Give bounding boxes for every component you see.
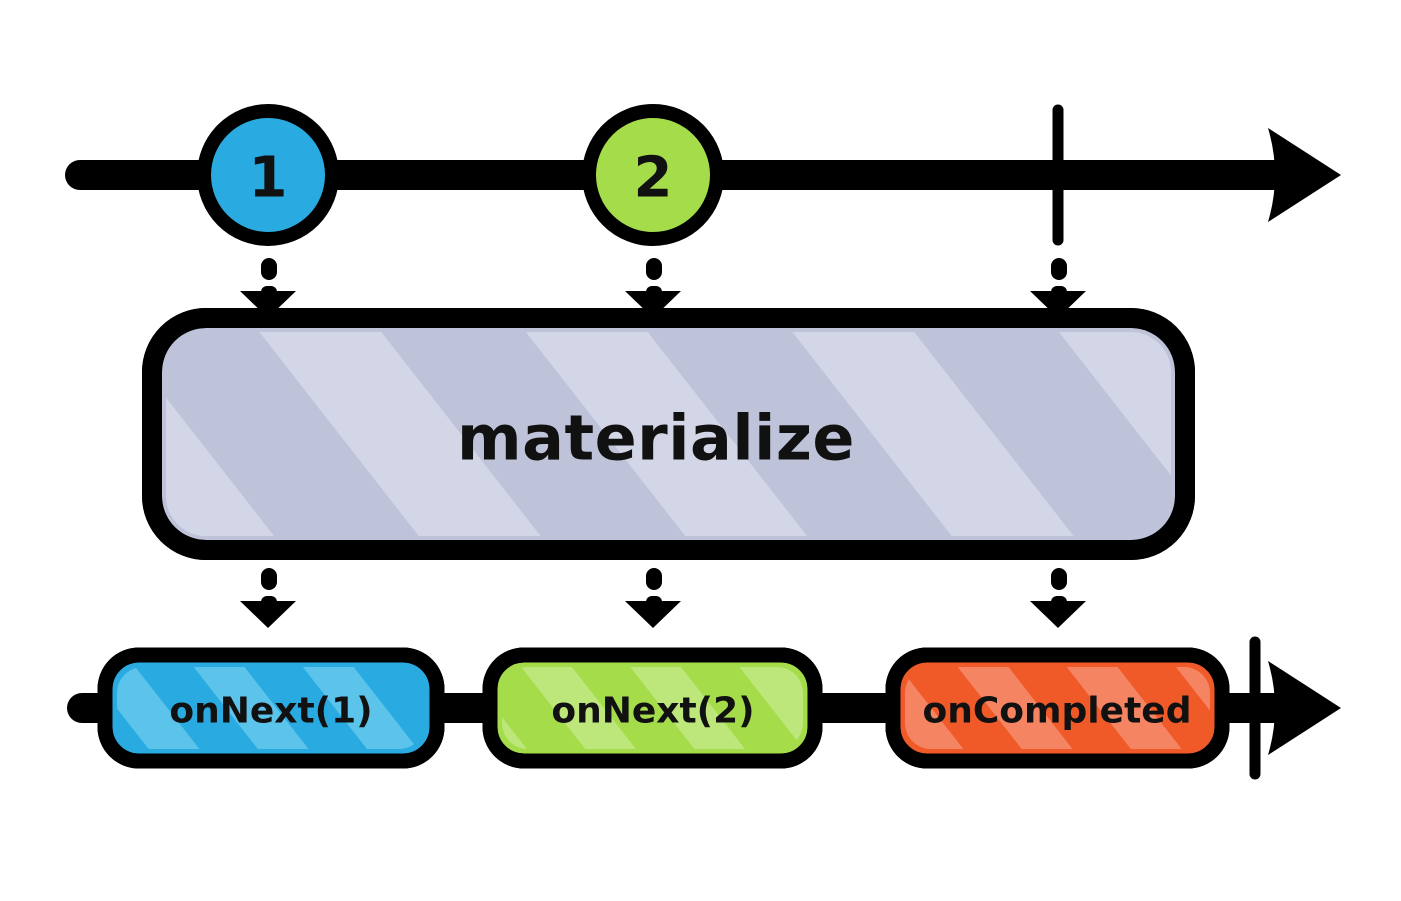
result-timeline-arrowhead (1268, 661, 1341, 755)
marble-value-label: 1 (249, 146, 288, 211)
result-timeline-group: onNext(1) onNext(2) onCompleted (82, 642, 1341, 774)
result-notification-oncompleted[interactable]: onCompleted (893, 655, 1222, 761)
marble-diagram-root: 1 2 (0, 0, 1401, 901)
arrow-dash (1051, 258, 1067, 280)
arrow-dash (646, 258, 662, 280)
source-marble-1[interactable]: 1 (204, 111, 332, 239)
marble-value-label: 2 (634, 146, 673, 211)
operator-name-label: materialize (457, 402, 855, 475)
result-notification-onnext-2[interactable]: onNext(2) (490, 655, 815, 761)
lower-projection-arrows (240, 568, 1086, 628)
operator-box-materialize[interactable]: materialize (152, 318, 1185, 550)
arrow-dash (1051, 568, 1067, 590)
source-timeline-group: 1 2 (80, 110, 1341, 240)
arrow-dash (261, 568, 277, 590)
source-marble-2[interactable]: 2 (589, 111, 717, 239)
result-notification-onnext-1[interactable]: onNext(1) (105, 655, 437, 761)
source-timeline-arrowhead (1268, 128, 1341, 222)
projection-arrow-6 (1030, 568, 1086, 628)
arrow-dash (261, 258, 277, 280)
marble-diagram-canvas: 1 2 (0, 0, 1401, 901)
arrow-head-icon (625, 601, 681, 628)
arrow-head-icon (1030, 601, 1086, 628)
notification-label: onNext(2) (551, 691, 754, 732)
arrow-head-icon (240, 601, 296, 628)
notification-label: onCompleted (923, 691, 1192, 732)
projection-arrow-4 (240, 568, 296, 628)
notification-label: onNext(1) (169, 691, 372, 732)
projection-arrow-5 (625, 568, 681, 628)
arrow-dash (646, 568, 662, 590)
